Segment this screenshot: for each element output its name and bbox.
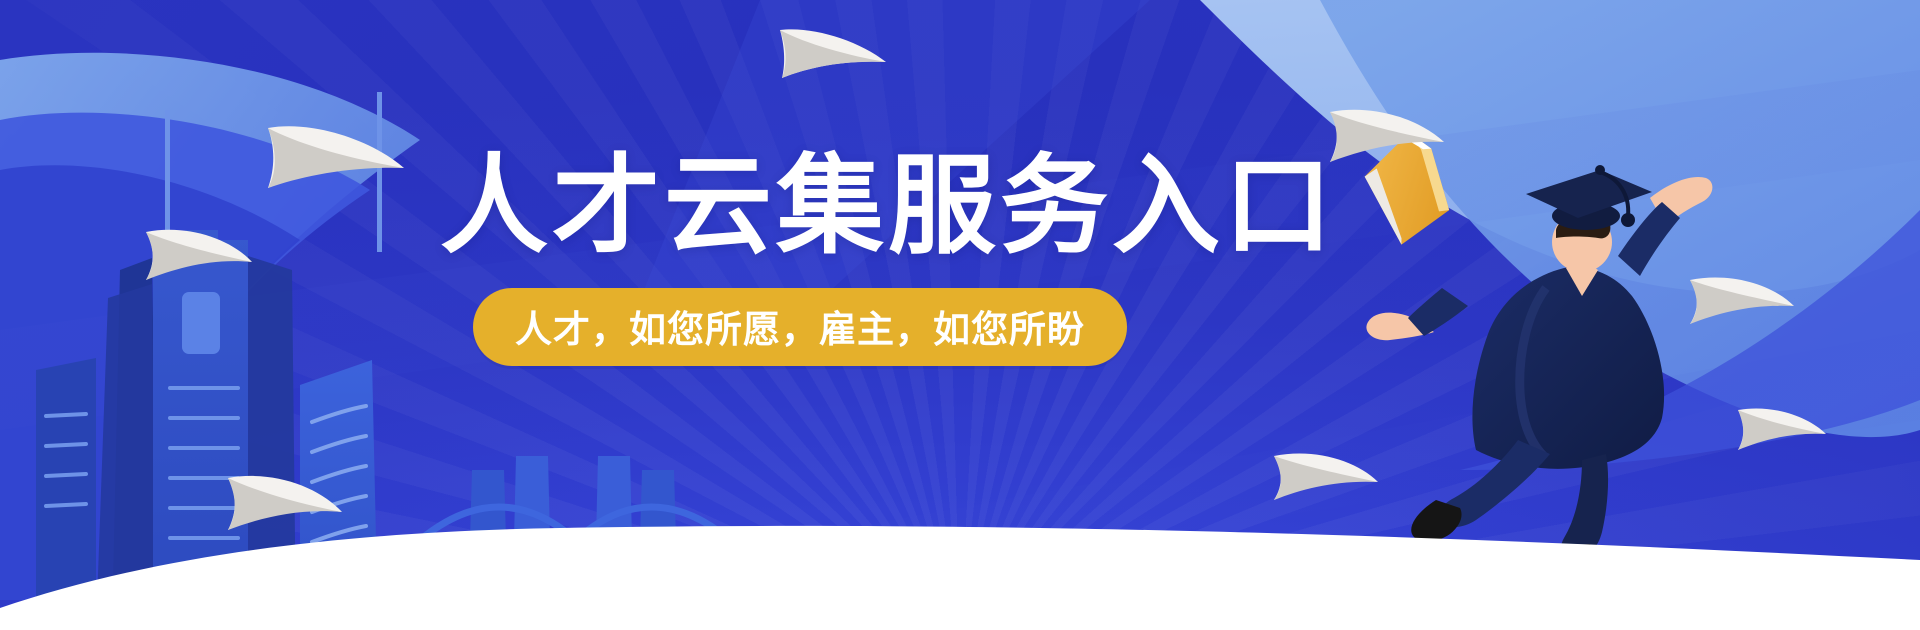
hero-banner: 人才云集服务入口 人才，如您所愿，雇主，如您所盼 bbox=[0, 0, 1920, 630]
mortarboard-cap bbox=[1526, 165, 1652, 230]
subtitle-pill: 人才，如您所愿，雇主，如您所盼 bbox=[473, 288, 1127, 366]
page-title: 人才云集服务入口 bbox=[440, 150, 1160, 262]
subtitle-pill-wrap: 人才，如您所愿，雇主，如您所盼 bbox=[440, 288, 1160, 366]
window-panel bbox=[182, 292, 220, 354]
banner-content: 人才云集服务入口 人才，如您所愿，雇主，如您所盼 bbox=[440, 150, 1160, 366]
open-book bbox=[1356, 128, 1457, 249]
bottom-white-wave bbox=[0, 520, 1920, 630]
antenna-left bbox=[165, 110, 170, 250]
gown bbox=[1472, 267, 1664, 469]
antenna-right bbox=[377, 92, 382, 252]
